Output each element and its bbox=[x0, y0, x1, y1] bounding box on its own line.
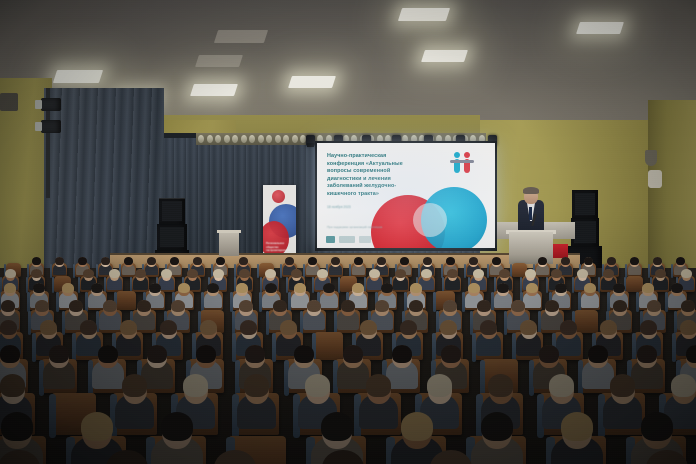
audience-member-hair bbox=[178, 283, 190, 294]
pa-speaker-left-mid bbox=[157, 224, 187, 250]
audience-member-hair bbox=[0, 345, 20, 363]
audience-member-hair bbox=[78, 257, 87, 265]
audience-member-hair bbox=[381, 283, 393, 294]
wall-speaker-right-lower bbox=[648, 170, 662, 188]
audience-member-hair bbox=[526, 283, 538, 294]
audience-member-hair bbox=[551, 269, 561, 278]
audience-member-hair bbox=[511, 300, 525, 313]
seat-frame bbox=[49, 394, 56, 438]
audience-member-hair bbox=[577, 269, 587, 278]
seat-frame bbox=[286, 277, 289, 294]
audience-member-hair bbox=[671, 283, 683, 294]
audience-member-hair bbox=[196, 345, 217, 363]
audience-member-hair bbox=[35, 300, 49, 313]
audience-member-hair bbox=[305, 374, 331, 397]
audience-member-hair bbox=[200, 320, 217, 335]
ceiling-light-panel-1 bbox=[53, 70, 103, 83]
audience-member-hair bbox=[331, 257, 340, 265]
audience-member-hair bbox=[236, 283, 248, 294]
audience-member-hair bbox=[681, 269, 691, 278]
audience-member-hair bbox=[427, 374, 453, 397]
audience-member-hair bbox=[607, 257, 616, 265]
audience-member-hair bbox=[244, 374, 270, 397]
audience-member-hair bbox=[525, 269, 535, 278]
audience-member-hair bbox=[520, 320, 537, 335]
seat-frame bbox=[520, 277, 523, 294]
audience-member-hair bbox=[423, 257, 432, 265]
audience-member-hair bbox=[421, 269, 431, 278]
audience-member-hair bbox=[443, 300, 457, 313]
ceiling-light-panel-9 bbox=[576, 22, 624, 34]
audience-member-hair bbox=[101, 257, 110, 265]
audience-member-hair bbox=[81, 412, 113, 441]
valance-hook bbox=[198, 135, 204, 143]
audience-member-hair bbox=[613, 283, 625, 294]
audience-member-hair bbox=[409, 300, 423, 313]
audience-member-hair bbox=[245, 345, 266, 363]
audience-member-hair bbox=[603, 269, 613, 278]
audience-member-hair bbox=[488, 374, 514, 397]
banner-text: Региональное общество гастроэнтерологов bbox=[266, 242, 293, 253]
ceiling-light-panel-4 bbox=[195, 55, 243, 67]
audience-member-hair bbox=[681, 300, 695, 313]
audience-member-hair bbox=[401, 412, 433, 441]
audience-member-hair bbox=[32, 257, 41, 265]
audience-member-hair bbox=[83, 269, 93, 278]
pa-speaker-right-mid bbox=[571, 218, 599, 246]
audience-member-hair bbox=[584, 283, 596, 294]
audience-member-hair bbox=[5, 269, 15, 278]
audience-member-hair bbox=[647, 300, 661, 313]
seat-frame bbox=[671, 264, 673, 279]
audience-member-hair bbox=[369, 269, 379, 278]
audience-member-hair bbox=[497, 283, 509, 294]
audience-member-hair bbox=[375, 300, 389, 313]
audience-member-hair bbox=[538, 257, 547, 265]
audience-member-hair bbox=[273, 300, 287, 313]
sponsor-logo-1 bbox=[326, 236, 335, 243]
audience-member-hair bbox=[280, 320, 297, 335]
audience-member-hair bbox=[294, 345, 315, 363]
two-figures-logo bbox=[448, 150, 482, 184]
audience-member-hair bbox=[499, 269, 509, 278]
valance-hook bbox=[249, 135, 255, 143]
audience-member-hair bbox=[410, 283, 422, 294]
audience-member-hair bbox=[149, 283, 161, 294]
audience-member-hair bbox=[31, 269, 41, 278]
banner-logo bbox=[272, 190, 285, 203]
seat-frame bbox=[26, 277, 29, 294]
auditorium-seat bbox=[574, 310, 598, 333]
presenter-tie bbox=[529, 207, 532, 220]
audience-member-hair bbox=[400, 320, 417, 335]
seat-frame bbox=[73, 264, 75, 279]
audience-member-hair bbox=[207, 283, 219, 294]
audience-member-hair bbox=[161, 412, 193, 441]
audience-member-hair bbox=[377, 257, 386, 265]
audience-member-hair bbox=[239, 257, 248, 265]
slide-white-circle bbox=[413, 203, 447, 237]
audience-member-hair bbox=[640, 320, 657, 335]
ceiling-light-panel-7 bbox=[398, 8, 450, 21]
audience-member-hair bbox=[468, 283, 480, 294]
audience-member-hair bbox=[49, 345, 70, 363]
audience bbox=[0, 255, 696, 464]
audience-member-hair bbox=[671, 374, 696, 397]
audience-member-hair bbox=[40, 320, 57, 335]
audience-member-hair bbox=[676, 257, 685, 265]
audience-member-hair bbox=[193, 257, 202, 265]
audience-member-hair bbox=[91, 283, 103, 294]
presenter-hair bbox=[523, 187, 539, 194]
audience-member-hair bbox=[55, 257, 64, 265]
seat-frame bbox=[280, 264, 282, 279]
audience-member-hair bbox=[561, 257, 570, 265]
audience-member-hair bbox=[98, 345, 119, 363]
audience-member-hair bbox=[400, 257, 409, 265]
audience-member-hair bbox=[109, 269, 119, 278]
audience-member-hair bbox=[613, 300, 627, 313]
seat-frame bbox=[78, 277, 81, 294]
audience-member-hair bbox=[366, 374, 392, 397]
audience-member-hair bbox=[103, 300, 117, 313]
valance-hook bbox=[283, 135, 289, 143]
auditorium-seat bbox=[314, 332, 343, 360]
auditorium-seat bbox=[626, 276, 643, 292]
audience-member-hair bbox=[171, 300, 185, 313]
audience-member-hair bbox=[561, 412, 593, 441]
slide-title: Научно-практическая конференция «Актуаль… bbox=[327, 153, 423, 199]
audience-member-hair bbox=[69, 300, 83, 313]
audience-member-hair bbox=[160, 320, 177, 335]
audience-member-hair bbox=[239, 269, 249, 278]
audience-member-hair bbox=[216, 257, 225, 265]
audience-member-hair bbox=[285, 257, 294, 265]
audience-member-hair bbox=[122, 374, 148, 397]
auditorium-seat bbox=[116, 291, 136, 310]
audience-member-hair bbox=[33, 283, 45, 294]
audience-member-hair bbox=[473, 269, 483, 278]
valance-hook bbox=[241, 135, 247, 143]
seat-frame bbox=[433, 292, 436, 312]
ceiling-light-panel-8 bbox=[421, 50, 468, 62]
audience-member-hair bbox=[265, 283, 277, 294]
ceiling-light-panel-6 bbox=[214, 30, 268, 43]
audience-member-hair bbox=[360, 320, 377, 335]
conference-hall-photo: Научно-практическая конференция «Актуаль… bbox=[0, 0, 696, 464]
projection-screen: Научно-практическая конференция «Актуаль… bbox=[317, 143, 495, 248]
audience-member-hair bbox=[469, 257, 478, 265]
audience-member-hair bbox=[183, 374, 209, 397]
audience-member-hair bbox=[321, 412, 353, 441]
sponsor-logo-3 bbox=[359, 236, 371, 243]
audience-member-hair bbox=[62, 283, 74, 294]
stage-light-upper bbox=[41, 98, 61, 111]
stage-spotlight-1 bbox=[306, 135, 315, 146]
audience-member-hair bbox=[395, 269, 405, 278]
seat-frame bbox=[546, 277, 549, 294]
audience-member-hair bbox=[135, 269, 145, 278]
audience-member-hair bbox=[539, 345, 560, 363]
seat-frame bbox=[338, 277, 341, 294]
audience-member-hair bbox=[170, 257, 179, 265]
stage-light-lower bbox=[41, 120, 61, 133]
valance-hook bbox=[224, 135, 230, 143]
audience-member-hair bbox=[600, 320, 617, 335]
audience-member-hair bbox=[545, 300, 559, 313]
audience-member-hair bbox=[588, 345, 609, 363]
wall-speaker-left bbox=[0, 93, 18, 111]
valance-hook bbox=[292, 135, 298, 143]
slide-footer-text: При поддержке организаций-партнёров bbox=[327, 225, 437, 229]
seat-frame bbox=[52, 277, 55, 294]
seat-frame bbox=[487, 264, 489, 279]
audience-member-hair bbox=[642, 283, 654, 294]
audience-member-hair bbox=[637, 345, 658, 363]
valance-hook bbox=[258, 135, 264, 143]
audience-member-hair bbox=[555, 283, 567, 294]
audience-member-hair bbox=[0, 374, 25, 397]
valance-hook bbox=[275, 135, 281, 143]
ceiling-light-panel-3 bbox=[190, 84, 238, 96]
audience-member-hair bbox=[317, 269, 327, 278]
audience-member-hair bbox=[213, 269, 223, 278]
pa-speaker-right-top bbox=[572, 190, 598, 218]
audience-member-hair bbox=[560, 320, 577, 335]
audience-member-hair bbox=[307, 300, 321, 313]
audience-member-hair bbox=[446, 257, 455, 265]
audience-member-hair bbox=[354, 257, 363, 265]
audience-member-hair bbox=[137, 300, 151, 313]
audience-member-hair bbox=[447, 269, 457, 278]
audience-member-hair bbox=[440, 320, 457, 335]
audience-member-hair bbox=[240, 320, 257, 335]
audience-member-hair bbox=[352, 283, 364, 294]
audience-member-hair bbox=[291, 269, 301, 278]
audience-member-hair bbox=[265, 269, 275, 278]
audience-member-hair bbox=[80, 320, 97, 335]
slide-subtitle: 18 ноября 2023 bbox=[327, 205, 415, 210]
audience-member-hair bbox=[477, 300, 491, 313]
audience-member-hair bbox=[0, 320, 17, 335]
audience-member-hair bbox=[655, 269, 665, 278]
audience-member-hair bbox=[392, 345, 413, 363]
audience-member-hair bbox=[441, 345, 462, 363]
audience-member-hair bbox=[147, 345, 168, 363]
audience-member-hair bbox=[610, 374, 636, 397]
audience-member-hair bbox=[492, 257, 501, 265]
audience-member-hair bbox=[120, 320, 137, 335]
audience-member-hair bbox=[584, 257, 593, 265]
seat-frame bbox=[257, 264, 259, 279]
audience-member-hair bbox=[147, 257, 156, 265]
seat-frame bbox=[572, 277, 575, 294]
audience-member-hair bbox=[4, 283, 16, 294]
audience-member-hair bbox=[481, 412, 513, 441]
audience-member-hair bbox=[549, 374, 575, 397]
wall-speaker-right bbox=[645, 150, 657, 166]
audience-member-hair bbox=[161, 269, 171, 278]
audience-member-hair bbox=[124, 257, 133, 265]
seat-frame bbox=[480, 360, 486, 396]
valance-hook bbox=[215, 135, 221, 143]
audience-member-hair bbox=[630, 257, 639, 265]
audience-member-hair bbox=[680, 320, 696, 335]
side-lectern bbox=[219, 232, 239, 256]
audience-member-hair bbox=[341, 300, 355, 313]
pa-speaker-left-top bbox=[159, 198, 185, 224]
audience-member-hair bbox=[641, 412, 673, 441]
seat-frame bbox=[312, 277, 315, 294]
audience-member-hair bbox=[239, 300, 253, 313]
audience-member-hair bbox=[308, 257, 317, 265]
audience-member-hair bbox=[187, 269, 197, 278]
seat-frame bbox=[464, 264, 466, 279]
audience-member-hair bbox=[1, 412, 33, 441]
valance-hook bbox=[207, 135, 213, 143]
valance-hook bbox=[266, 135, 272, 143]
roll-up-banner: Региональное общество гастроэнтерологов bbox=[263, 185, 296, 258]
audience-member-hair bbox=[653, 257, 662, 265]
audience-member-hair bbox=[480, 320, 497, 335]
audience-member-hair bbox=[323, 283, 335, 294]
side-lectern-top bbox=[217, 230, 241, 233]
audience-member-hair bbox=[294, 283, 306, 294]
audience-member-hair bbox=[1, 300, 15, 313]
sponsor-logo-2 bbox=[339, 236, 355, 243]
ceiling-light-panel-5 bbox=[288, 76, 336, 88]
valance-hook bbox=[232, 135, 238, 143]
audience-member-hair bbox=[343, 345, 364, 363]
